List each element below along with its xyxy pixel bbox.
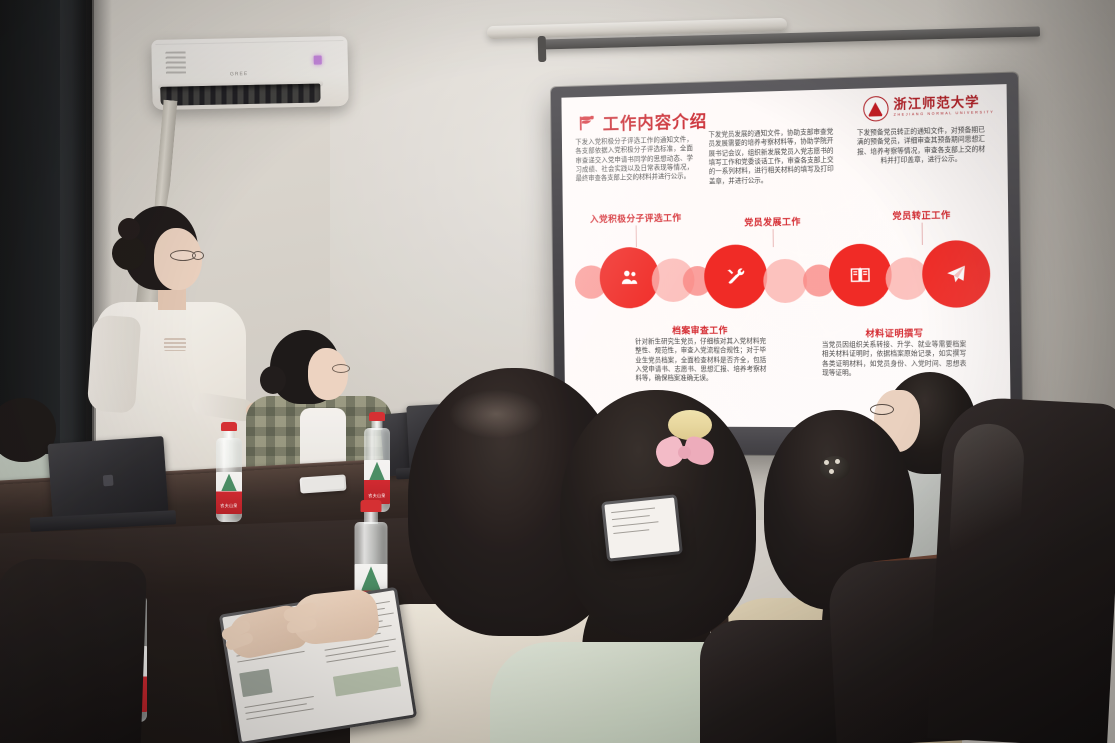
presenter-hair-bun-2 — [118, 218, 140, 240]
decorative-bubble-4 — [763, 259, 807, 303]
classroom-presentation-photo: GREE — [0, 0, 1115, 743]
foreground-left-hair-sheen — [450, 390, 542, 438]
bottle-1-cap — [221, 422, 237, 431]
bottle-5-cap — [361, 500, 382, 512]
top-column-2-heading: 党员发展工作 — [709, 214, 836, 229]
presenter-hair-bun — [112, 236, 146, 270]
bottom-column-1-body: 针对新生研究生党员，仔细核对其入党材料完整性、规范性，审查入党流程合规性；对于毕… — [635, 337, 766, 384]
tablet-table-line — [613, 529, 649, 534]
tablet-table-line — [612, 515, 650, 520]
top-column-1-heading: 入党积极分子评选工作 — [574, 211, 698, 226]
smartphone-screen — [302, 477, 345, 492]
bottle-1-brand: 农夫山泉 — [216, 503, 242, 509]
tablet-table-line — [613, 521, 659, 527]
tan-tie-bead-3 — [829, 469, 834, 474]
bottle-2-label: 农夫山泉 — [364, 460, 390, 504]
bottle-2-cap — [369, 412, 385, 421]
bottle-5-mountain-graphic — [361, 566, 381, 590]
university-name-en: ZHEJIANG NORMAL UNIVERSITY — [894, 111, 995, 117]
bottom-column-1-heading: 档案审查工作 — [637, 323, 764, 337]
tan-hair-tie — [820, 456, 850, 480]
slide-title: 工作内容介绍 — [603, 107, 708, 135]
bottle-1-mountain-graphic — [221, 474, 237, 492]
top-column-1-body: 下发入党积极分子评选工作的通知文件，各支部依据入党积极分子评选标准，全面审查递交… — [575, 135, 693, 184]
plaid-face — [308, 348, 348, 400]
top-column-3-heading: 党员转正工作 — [856, 207, 987, 222]
ac-brand-text: GREE — [230, 71, 248, 77]
laptop-left-lid[interactable] — [47, 436, 168, 520]
university-name-block: 浙江师范大学 ZHEJIANG NORMAL UNIVERSITY — [893, 96, 994, 118]
chair-leather-highlight — [948, 422, 1026, 575]
top-column-3-body: 下发预备党员转正的通知文件，对预备期已满的预备党员，详细审查其预备期间思想汇报、… — [855, 126, 986, 167]
bottom-column-2-body: 当党员因组织关系转接、升学、就业等需要档案相关材料证明时，依据档案原始记录，如实… — [822, 340, 967, 378]
university-crest-icon — [863, 96, 889, 122]
chair-left-foreground[interactable] — [0, 557, 147, 743]
tablet-table-screen[interactable] — [604, 497, 679, 558]
water-bottle-2[interactable]: 农夫山泉 — [362, 412, 392, 512]
bottle-1-label: 农夫山泉 — [216, 472, 242, 514]
slide-title-row: 工作内容介绍 — [577, 107, 708, 135]
tools-icon — [725, 265, 747, 287]
bubble-book — [829, 243, 892, 306]
bottle-2-brand: 农夫山泉 — [364, 493, 390, 499]
bubble-tools — [704, 244, 768, 308]
plaid-hair-bun — [260, 366, 286, 394]
chair-right-foreground[interactable] — [927, 396, 1115, 743]
tablet-doc-image-2 — [333, 666, 401, 696]
university-name-cn: 浙江师范大学 — [893, 96, 994, 112]
rail-bracket — [538, 36, 547, 62]
tan-tie-bead-2 — [835, 459, 840, 464]
plaid-glasses — [332, 364, 350, 373]
people-icon — [619, 267, 640, 289]
top-column-2-body: 下发党员发展的通知文件，协助支部审查党员发展需要的培养考察材料等，协助学院开展书… — [708, 128, 834, 187]
tan-tie-bead-1 — [824, 460, 829, 465]
tablet-table[interactable] — [601, 494, 683, 562]
air-conditioner: GREE — [151, 36, 348, 110]
tablet-doc-line — [326, 651, 395, 663]
icon-bubble-row — [563, 240, 1009, 319]
ac-vent-louvers — [160, 84, 320, 106]
tablet-doc-line — [245, 696, 314, 708]
bottom-column-2-heading: 材料证明撰写 — [826, 326, 964, 340]
tablet-table-line — [611, 508, 655, 514]
pink-bow-ribbon — [656, 434, 718, 472]
open-book-icon — [849, 264, 871, 286]
ac-seam — [155, 40, 343, 45]
bow-knot — [678, 446, 691, 459]
university-logo: 浙江师范大学 ZHEJIANG NORMAL UNIVERSITY — [863, 93, 995, 122]
tablet-doc-line — [246, 708, 313, 720]
presenter-glasses-right-lens — [192, 251, 204, 260]
bubble-people — [599, 247, 659, 309]
ac-side-grill — [166, 51, 186, 73]
presenter-shirt-print — [164, 338, 186, 351]
ac-indicator-light — [314, 55, 322, 64]
bottle-2-mountain-graphic — [369, 462, 385, 480]
party-emblem-icon — [577, 112, 597, 133]
bubble-plane — [922, 240, 991, 308]
tablet-doc-image — [239, 669, 272, 697]
laptop-left-logo — [103, 475, 114, 487]
water-bottle-1[interactable]: 农夫山泉 — [214, 422, 244, 522]
paper-plane-icon — [945, 263, 968, 286]
smartphone-on-table[interactable] — [299, 474, 346, 493]
